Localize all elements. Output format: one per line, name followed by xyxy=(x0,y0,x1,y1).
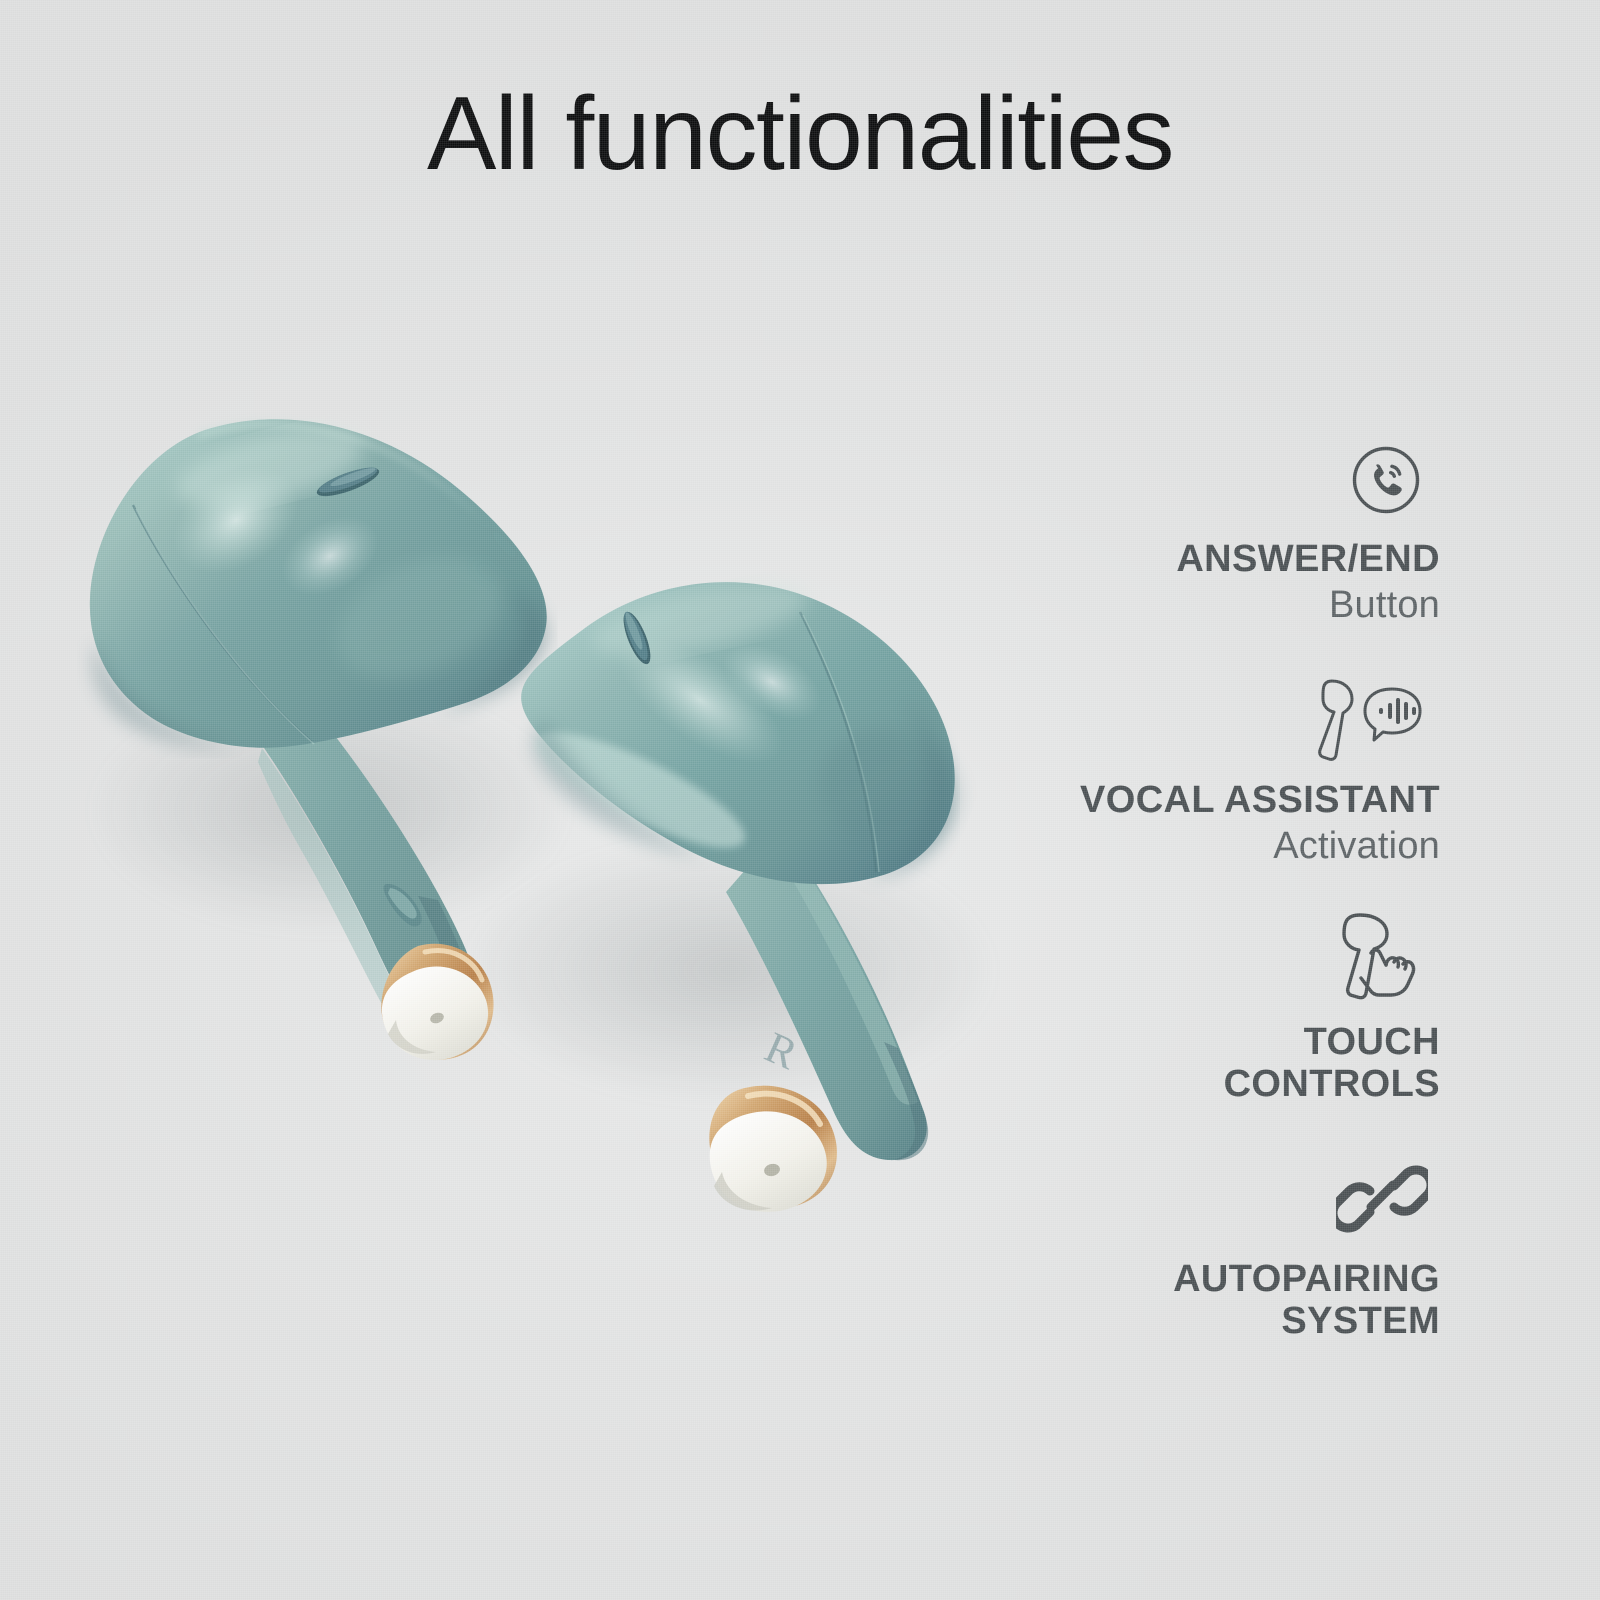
feature-title: ANSWER/END xyxy=(970,538,1440,581)
left-earbud-tip xyxy=(381,944,493,1060)
product-feature-poster: R All functionalities xyxy=(0,0,1600,1600)
feature-title: AUTOPAIRING xyxy=(970,1258,1440,1301)
left-earbud xyxy=(90,414,547,1060)
right-earbud-tip xyxy=(709,1086,837,1212)
right-earbud: R xyxy=(521,570,975,1212)
feature-subtitle: Button xyxy=(970,583,1440,628)
svg-text:R: R xyxy=(758,1022,805,1079)
touch-tap-earbud-icon xyxy=(970,913,1440,1005)
right-earbud-marking: R xyxy=(758,1022,805,1079)
feature-title: TOUCH xyxy=(970,1021,1440,1064)
feature-title: VOCAL ASSISTANT xyxy=(970,779,1440,822)
feature-subtitle: SYSTEM xyxy=(970,1300,1440,1343)
feature-autopairing: AUTOPAIRING SYSTEM xyxy=(970,1150,1440,1343)
feature-list: ANSWER/END Button xyxy=(970,430,1440,1343)
feature-answer-end: ANSWER/END Button xyxy=(970,430,1440,627)
feature-vocal-assistant: VOCAL ASSISTANT Activation xyxy=(970,671,1440,868)
chain-link-icon xyxy=(970,1150,1440,1242)
feature-subtitle: Activation xyxy=(970,824,1440,869)
earbud-voice-assistant-icon xyxy=(970,671,1440,763)
page-title: All functionalities xyxy=(0,78,1600,190)
phone-call-icon xyxy=(970,430,1440,522)
feature-touch-controls: TOUCH CONTROLS xyxy=(970,913,1440,1106)
feature-subtitle: CONTROLS xyxy=(970,1063,1440,1106)
